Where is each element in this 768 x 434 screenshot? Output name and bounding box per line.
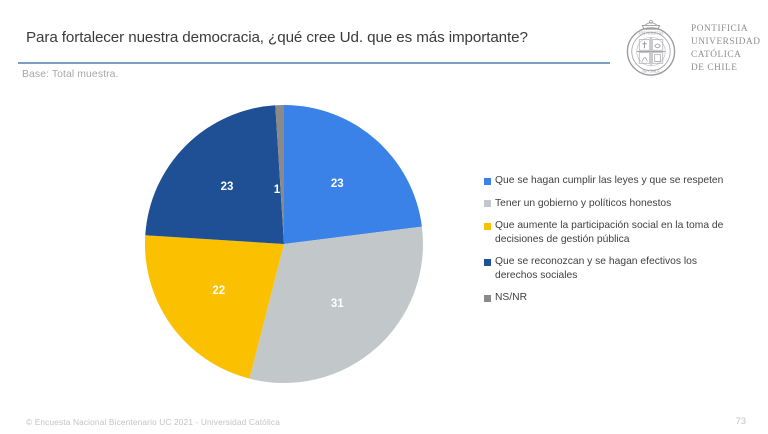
logo-line-2: UNIVERSIDAD (691, 36, 761, 49)
pie-svg (144, 104, 424, 384)
logo-line-4: DE CHILE (691, 62, 761, 75)
legend-item-label: Tener un gobierno y políticos honestos (495, 197, 671, 211)
legend-swatch-icon (484, 259, 491, 266)
logo-line-3: CATÓLICA (691, 49, 761, 62)
pie-slice (284, 105, 422, 244)
pie-chart: 233122231 (144, 104, 424, 384)
uc-seal-icon: UNIVERSITAS DE CHILE (620, 18, 682, 80)
uc-wordmark: PONTIFICIA UNIVERSIDAD CATÓLICA DE CHILE (691, 23, 761, 76)
legend-item-label: Que aumente la participación social en l… (495, 219, 736, 246)
chart-legend: Que se hagan cumplir las leyes y que se … (484, 174, 736, 314)
legend-item[interactable]: Tener un gobierno y políticos honestos (484, 197, 736, 211)
svg-text:UNIVERSITAS: UNIVERSITAS (639, 32, 664, 36)
legend-swatch-icon (484, 223, 491, 230)
legend-item-label: Que se hagan cumplir las leyes y que se … (495, 174, 723, 188)
pie-slice (145, 105, 284, 244)
svg-text:DE CHILE: DE CHILE (642, 70, 660, 74)
title-divider (18, 62, 610, 64)
logo-line-1: PONTIFICIA (691, 23, 761, 36)
legend-item-label: NS/NR (495, 291, 527, 305)
page-title: Para fortalecer nuestra democracia, ¿qué… (26, 29, 606, 47)
footer-copyright: © Encuesta Nacional Bicentenario UC 2021… (26, 417, 280, 427)
chart-area: 233122231 Que se hagan cumplir las leyes… (0, 90, 768, 395)
chart-base-note: Base: Total muestra. (22, 69, 119, 80)
legend-item[interactable]: Que se reconozcan y se hagan efectivos l… (484, 255, 736, 282)
legend-swatch-icon (484, 295, 491, 302)
legend-swatch-icon (484, 200, 491, 207)
legend-swatch-icon (484, 178, 491, 185)
page-number: 73 (736, 416, 746, 426)
legend-item-label: Que se reconozcan y se hagan efectivos l… (495, 255, 736, 282)
legend-item[interactable]: NS/NR (484, 291, 736, 305)
uc-logo: UNIVERSITAS DE CHILE PONTIFICIA UNIVERSI… (620, 10, 768, 88)
legend-item[interactable]: Que se hagan cumplir las leyes y que se … (484, 174, 736, 188)
legend-item[interactable]: Que aumente la participación social en l… (484, 219, 736, 246)
